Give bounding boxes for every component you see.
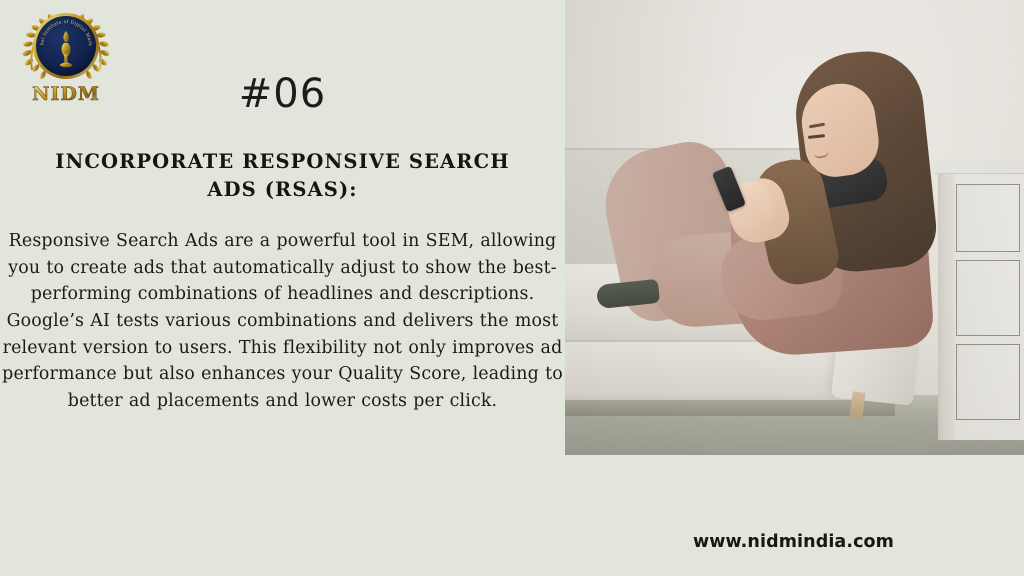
slide-title: INCORPORATE RESPONSIVE SEARCH ADS (RSAS)… [28, 148, 537, 205]
slide-number: #06 [0, 74, 565, 114]
hero-photo [565, 0, 1024, 455]
text-column: #06 INCORPORATE RESPONSIVE SEARCH ADS (R… [0, 0, 565, 576]
dresser-side-panel [940, 172, 955, 440]
dresser-drawer [956, 184, 1020, 252]
dresser-drawer [956, 344, 1020, 420]
dresser-furniture [938, 172, 1024, 440]
slide-root: National Institute of Digital Marketing … [0, 0, 1024, 576]
sofa-under-shadow [565, 400, 895, 416]
slide-body-text: Responsive Search Ads are a powerful too… [2, 228, 563, 414]
footer-website-url[interactable]: www.nidmindia.com [693, 532, 894, 552]
dresser-top [934, 160, 1024, 174]
dresser-drawer [956, 260, 1020, 336]
